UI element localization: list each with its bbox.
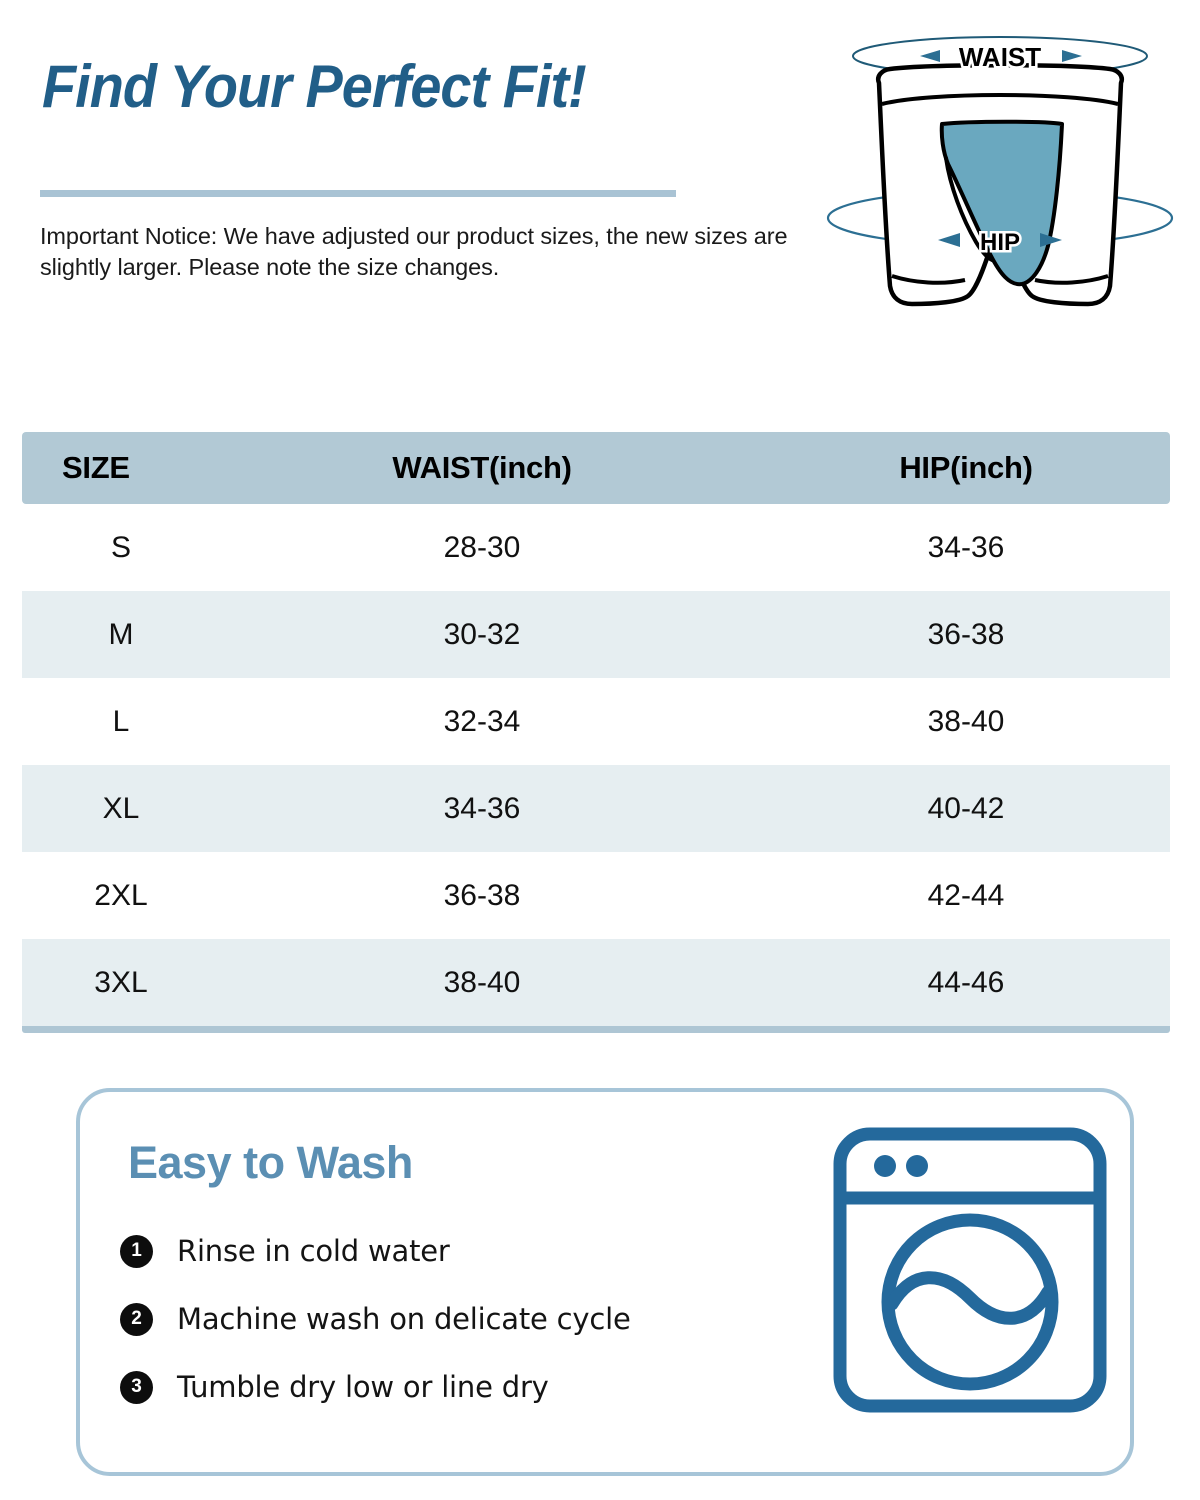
step-text: Tumble dry low or line dry [177, 1370, 549, 1404]
step-number-badge: 1 [120, 1235, 153, 1268]
title-divider [40, 190, 676, 197]
washing-machine-icon [820, 1120, 1120, 1420]
wash-card-title: Easy to Wash [128, 1137, 413, 1189]
list-item: 3 Tumble dry low or line dry [120, 1356, 780, 1418]
header-section: Find Your Perfect Fit! Important Notice:… [0, 0, 1200, 340]
table-row: S 28-30 34-36 [22, 504, 1170, 591]
washer-wave [892, 1278, 1048, 1319]
table-header-row: SIZE WAIST(inch) HIP(inch) [22, 432, 1170, 504]
table-row: 3XL 38-40 44-46 [22, 939, 1170, 1026]
size-chart-table: SIZE WAIST(inch) HIP(inch) S 28-30 34-36… [22, 432, 1170, 1033]
list-item: 1 Rinse in cold water [120, 1220, 780, 1282]
cell-size: XL [22, 792, 202, 826]
table-row: L 32-34 38-40 [22, 678, 1170, 765]
washer-dot-1 [874, 1155, 896, 1177]
step-text: Machine wash on delicate cycle [177, 1302, 631, 1336]
cell-size: M [22, 618, 202, 652]
cell-hip: 40-42 [762, 792, 1170, 826]
cell-hip: 42-44 [762, 879, 1170, 913]
cell-waist: 34-36 [202, 792, 762, 826]
waist-arrow-left [920, 50, 940, 62]
waist-arrow-right [1062, 50, 1082, 62]
cell-waist: 36-38 [202, 879, 762, 913]
easy-to-wash-card: Easy to Wash 1 Rinse in cold water 2 Mac… [76, 1088, 1134, 1476]
boxer-brief-measurement-diagram: WAIST HIP [810, 28, 1190, 340]
step-text: Rinse in cold water [177, 1234, 450, 1268]
list-item: 2 Machine wash on delicate cycle [120, 1288, 780, 1350]
cell-waist: 32-34 [202, 705, 762, 739]
cell-waist: 30-32 [202, 618, 762, 652]
cell-hip: 38-40 [762, 705, 1170, 739]
waist-label: WAIST [959, 42, 1041, 72]
washer-dot-2 [906, 1155, 928, 1177]
table-row: XL 34-36 40-42 [22, 765, 1170, 852]
cell-waist: 38-40 [202, 966, 762, 1000]
cell-hip: 44-46 [762, 966, 1170, 1000]
table-row: M 30-32 36-38 [22, 591, 1170, 678]
table-row: 2XL 36-38 42-44 [22, 852, 1170, 939]
boxer-brief-shape [878, 65, 1122, 304]
page-title: Find Your Perfect Fit! [42, 52, 586, 121]
cell-waist: 28-30 [202, 531, 762, 565]
cell-hip: 36-38 [762, 618, 1170, 652]
wash-steps-list: 1 Rinse in cold water 2 Machine wash on … [120, 1220, 780, 1424]
table-bottom-border [22, 1026, 1170, 1033]
column-header-size: SIZE [22, 450, 202, 486]
column-header-hip: HIP(inch) [762, 450, 1170, 486]
cell-size: S [22, 531, 202, 565]
hip-label: HIP [980, 229, 1020, 256]
step-number-badge: 3 [120, 1371, 153, 1404]
cell-size: L [22, 705, 202, 739]
step-number-badge: 2 [120, 1303, 153, 1336]
cell-size: 3XL [22, 966, 202, 1000]
column-header-waist: WAIST(inch) [202, 450, 762, 486]
cell-size: 2XL [22, 879, 202, 913]
important-notice-text: Important Notice: We have adjusted our p… [40, 221, 810, 284]
cell-hip: 34-36 [762, 531, 1170, 565]
